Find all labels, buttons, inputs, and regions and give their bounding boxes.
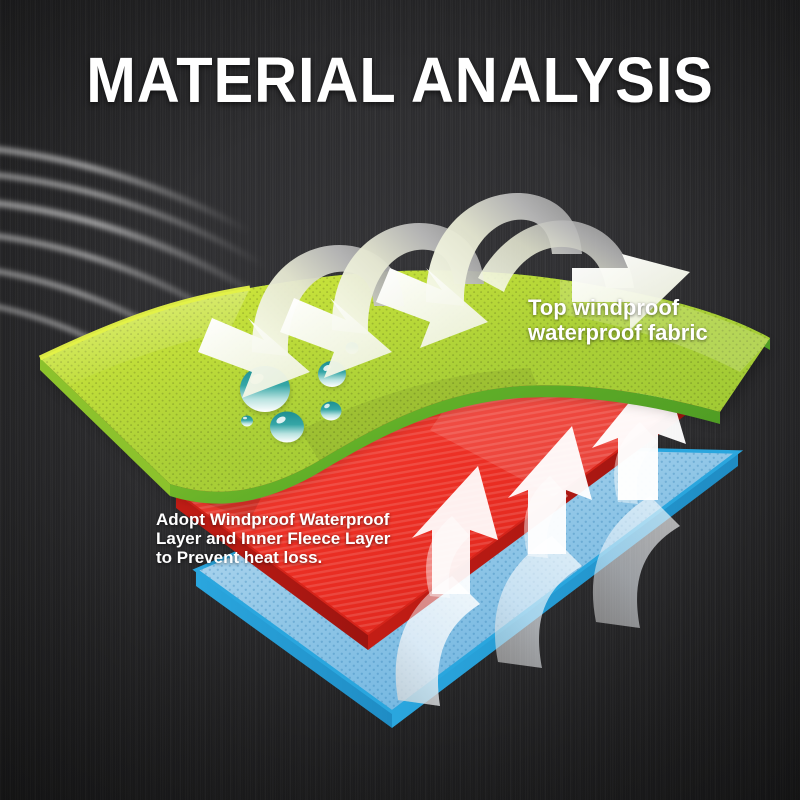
- material-analysis-infographic: MATERIAL ANALYSIS Top windproof waterpro…: [0, 0, 800, 800]
- layer-diagram-artwork: [0, 0, 800, 800]
- middle-layer-caption: Adopt Windproof Waterproof Layer and Inn…: [156, 510, 390, 567]
- page-title: MATERIAL ANALYSIS: [28, 48, 772, 112]
- top-layer-caption: Top windproof waterproof fabric: [528, 296, 708, 345]
